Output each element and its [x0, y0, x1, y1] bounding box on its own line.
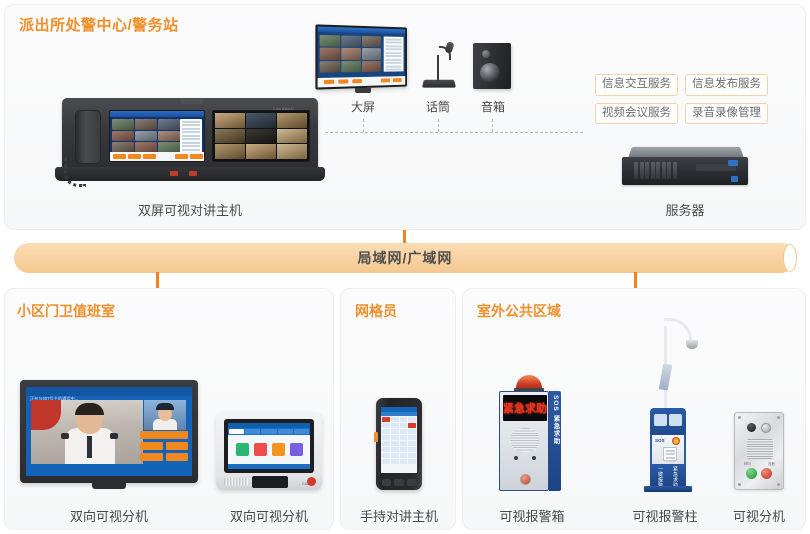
console-handset [75, 110, 101, 164]
big-screen-label: 大屏 [330, 98, 396, 115]
console-video-call-screen [109, 110, 205, 162]
screw-icon [738, 483, 741, 486]
intercom-device-label: 可视分机 [722, 506, 796, 525]
handheld-body [376, 398, 422, 490]
connector-line-bigscreen [363, 119, 364, 132]
video-alarm-box: SOS 紧急求助 紧急求助 [499, 375, 561, 491]
bigscreen-stand [355, 88, 371, 93]
section-title-gate: 小区门卫值班室 [17, 301, 115, 321]
screw-icon [777, 483, 780, 486]
network-bar: 局域网/广域网 [14, 243, 796, 273]
handheld-ptt-button[interactable] [374, 432, 378, 442]
pillar-side-text-right: 紧急求助 [672, 466, 679, 488]
pillar-head-box [650, 408, 686, 436]
monitor-device-label: 双向可视分机 [20, 506, 198, 525]
diagram-root: 派出所处警中心/警务站 Landwell [0, 0, 810, 534]
service-tag-recording-management[interactable]: 录音录像管理 [685, 103, 768, 125]
connector-line-horizontal [325, 132, 583, 133]
network-bar-label: 局域网/广域网 [14, 243, 796, 273]
screen-titlebar [110, 111, 204, 117]
monitor-screen: 正在与007号主机通话中... [26, 387, 192, 476]
two-way-video-extension-monitor: 正在与007号主机通话中... [20, 380, 198, 492]
server-badge-icon [728, 160, 738, 166]
microphone-base [422, 80, 456, 88]
police-emblem-icon [672, 437, 680, 445]
speaker-woofer [480, 63, 500, 83]
service-tag-info-exchange[interactable]: 信息交互服务 [595, 74, 678, 96]
pillar-device-label: 可视报警柱 [620, 506, 710, 525]
audio-speaker [473, 43, 511, 89]
tablet-frame: CALL [216, 412, 322, 490]
handset-cord [64, 157, 86, 187]
monitor-picture-in-picture [144, 400, 186, 430]
alarm-box-speaker-grille [511, 428, 539, 452]
intercom-speaker-grille [747, 439, 773, 459]
tablet-device-label: 双向可视分机 [214, 506, 324, 525]
server-front-face [622, 157, 748, 185]
handheld-device-label: 手持对讲主机 [356, 506, 442, 525]
bigscreen-participant-grid [320, 35, 381, 73]
handheld-table [381, 416, 417, 466]
pillar-solar-panel [659, 363, 672, 390]
bigscreen-toolbar [318, 76, 406, 87]
alarm-box-device-label: 可视报警箱 [490, 506, 574, 525]
pillar-window-right [669, 414, 682, 426]
pillar-base [644, 486, 692, 492]
tablet-tab-bar[interactable] [228, 428, 310, 435]
alarm-box-indicator-dots [514, 456, 536, 460]
intercom-call-button[interactable] [746, 468, 757, 479]
cctv-grid [215, 113, 307, 159]
intercom-hangup-label: 挂断 [768, 461, 775, 466]
console-indicator-leds [167, 171, 207, 179]
monitor-frame: 正在与007号主机通话中... [20, 380, 198, 483]
bigscreen-titlebar [318, 27, 406, 35]
video-participant-grid [112, 119, 180, 153]
dual-screen-intercom-console: Landwell [55, 95, 325, 190]
tablet-emergency-button[interactable] [307, 477, 316, 486]
connector-line-microphone [438, 119, 439, 132]
network-connector-top [403, 230, 406, 244]
alarm-box-emergency-button[interactable] [520, 474, 531, 485]
speaker-label: 音箱 [468, 98, 518, 115]
two-way-video-extension-tablet: CALL [216, 412, 322, 490]
surveillance-camera-icon [686, 340, 698, 349]
intercom-call-label: 呼叫 [744, 461, 751, 466]
tablet-home-strip [252, 476, 288, 488]
rack-server [622, 146, 748, 186]
microphone-label: 话筒 [410, 98, 466, 115]
pillar-keypad[interactable] [663, 447, 677, 461]
connector-line-speaker [492, 119, 493, 132]
page-title: 派出所处警中心/警务站 [19, 14, 179, 35]
screw-icon [738, 416, 741, 419]
alarm-box-led-text: 紧急求助 [503, 400, 547, 416]
monitor-main-video [31, 400, 143, 464]
console-cctv-screen [212, 110, 310, 162]
console-camera-icon [180, 98, 204, 104]
section-title-outdoor: 室外公共区域 [477, 301, 561, 321]
alarm-box-body: 紧急求助 [499, 391, 549, 491]
alarm-box-led-display: 紧急求助 [503, 395, 547, 421]
monitor-action-buttons[interactable] [140, 431, 188, 464]
intercom-hangup-button[interactable] [761, 468, 772, 479]
console-label: 双屏可视对讲主机 [55, 200, 325, 219]
screw-icon [777, 416, 780, 419]
tablet-screen [228, 423, 310, 469]
server-drive-bays [634, 162, 677, 179]
contact-list-panel [180, 119, 202, 153]
intercom-camera-icon [747, 423, 756, 432]
section-title-grid-officer: 网格员 [355, 301, 397, 321]
service-tag-video-conference[interactable]: 视频会议服务 [595, 103, 678, 125]
tablet-chin: CALL [224, 476, 314, 486]
tablet-speaker-grille [224, 478, 248, 486]
tablet-bezel [224, 419, 314, 473]
handheld-key-row[interactable] [382, 479, 416, 486]
bigscreen-contact-list [384, 36, 404, 71]
server-label: 服务器 [622, 200, 748, 219]
service-tag-info-publish[interactable]: 信息发布服务 [685, 74, 768, 96]
service-tag-group: 信息交互服务 信息发布服务 视频会议服务 录音录像管理 [595, 74, 775, 131]
intercom-faceplate: 呼叫 挂断 [734, 412, 784, 490]
desk-microphone [415, 38, 461, 88]
alarm-box-side-text: SOS 紧急求助 [550, 395, 560, 445]
server-power-led-icon [731, 176, 738, 182]
tablet-app-icons[interactable] [228, 443, 310, 456]
pillar-sos-label: SOS [655, 438, 665, 443]
screen-action-buttons [113, 154, 203, 159]
speaker-tweeter [482, 50, 490, 58]
microphone-capsule [444, 41, 454, 54]
pillar-window-left [654, 414, 667, 426]
monitor-stand [92, 481, 126, 489]
video-extension-intercom-panel: 呼叫 挂断 [734, 412, 784, 490]
video-alarm-pillar: SOS 一键报警 紧急求助 [630, 312, 704, 492]
console-body: Landwell [62, 98, 318, 170]
handheld-screen [381, 407, 417, 473]
alarm-box-side-panel: SOS 紧急求助 [549, 391, 561, 491]
pillar-control-panel: SOS [650, 435, 686, 465]
big-screen-display [315, 24, 407, 89]
intercom-lens-icon [761, 423, 771, 433]
tablet-footer-bar [228, 464, 310, 469]
monitor-status-bar: 正在与007号主机通话中... [26, 387, 192, 396]
pillar-column: 一键报警 紧急求助 [650, 464, 686, 488]
pillar-side-text-left: 一键报警 [657, 466, 664, 488]
handheld-intercom-host [376, 398, 422, 490]
